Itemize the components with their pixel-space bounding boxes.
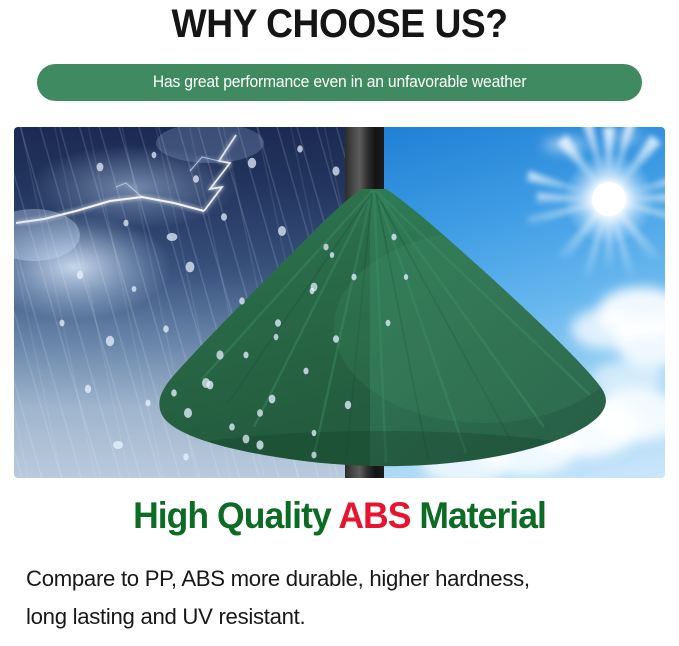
- infographic-page: WHY CHOOSE US? Has great performance eve…: [0, 0, 679, 646]
- product-photo: [14, 127, 665, 478]
- feature-banner: Has great performance even in an unfavor…: [37, 64, 642, 101]
- description-line-1: Compare to PP, ABS more durable, higher …: [26, 560, 652, 598]
- material-description: Compare to PP, ABS more durable, higher …: [26, 560, 652, 636]
- subhead-highlight-abs: ABS: [338, 495, 410, 536]
- water-droplets: [14, 127, 369, 478]
- page-title: WHY CHOOSE US?: [24, 2, 655, 46]
- storm-background: [14, 127, 369, 478]
- subhead-part2: Material: [410, 495, 545, 536]
- subhead-part1: High Quality: [133, 495, 338, 536]
- description-line-2: long lasting and UV resistant.: [26, 598, 652, 636]
- material-subhead: High Quality ABS Material: [14, 494, 666, 538]
- feature-banner-label: Has great performance even in an unfavor…: [153, 73, 527, 92]
